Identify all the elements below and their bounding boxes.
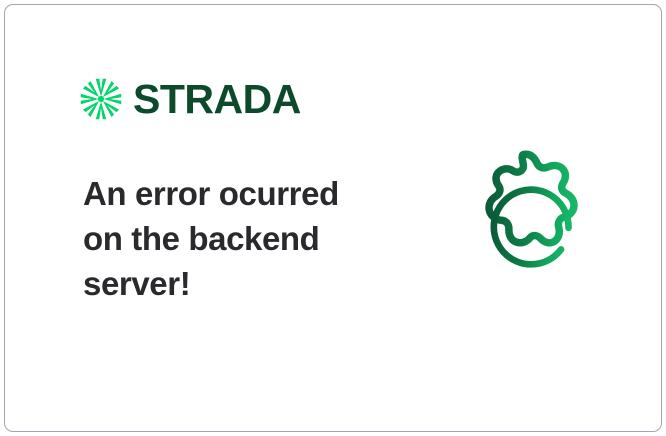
starburst-asterisk-icon [79,77,123,121]
brand-logo: STRADA [79,73,301,125]
error-card: STRADA An error ocurred on the backend s… [4,4,662,432]
gear-cog-icon [449,144,615,310]
error-message-heading: An error ocurred on the backend server! [83,171,383,306]
brand-wordmark: STRADA [133,79,301,120]
